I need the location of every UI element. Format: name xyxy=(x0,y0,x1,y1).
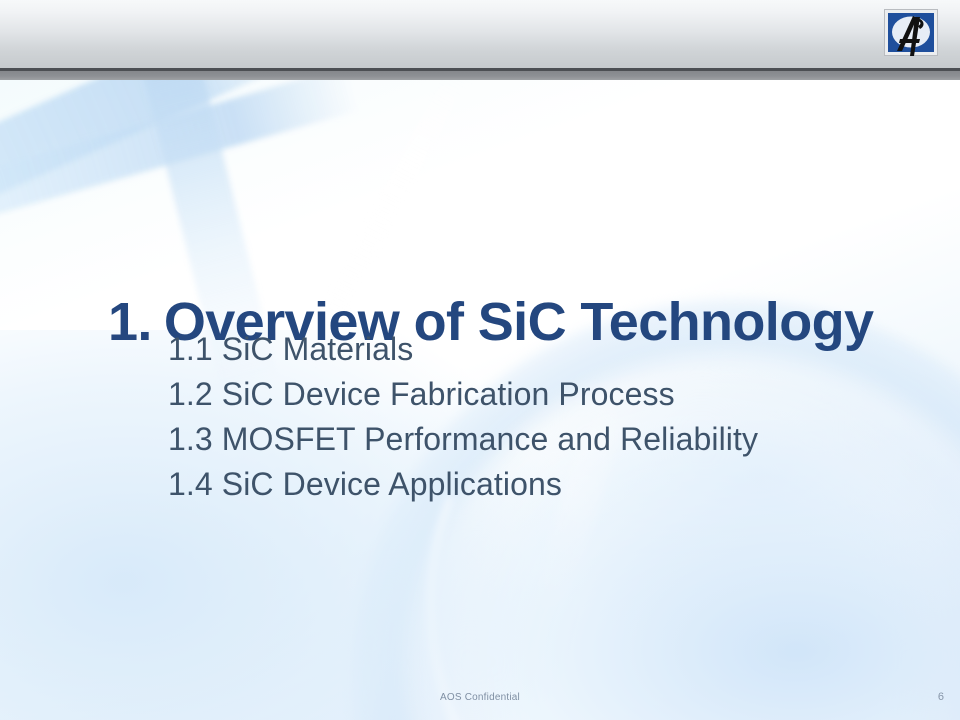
slide-page-number: 6 xyxy=(938,691,944,703)
presentation-slide: 1.Overview of SiC Technology 1.1 SiC Mat… xyxy=(0,0,960,720)
slide-title-number: 1. xyxy=(108,292,152,352)
list-item: 1.1 SiC Materials xyxy=(168,327,758,372)
list-item: 1.2 SiC Device Fabrication Process xyxy=(168,372,758,417)
header-drop-shadow xyxy=(0,71,960,80)
slide-content: 1.Overview of SiC Technology 1.1 SiC Mat… xyxy=(0,0,960,720)
slide-header-band xyxy=(0,0,960,68)
aos-logo-icon xyxy=(884,9,938,56)
list-item: 1.3 MOSFET Performance and Reliability xyxy=(168,417,758,462)
footer-confidential-label: AOS Confidential xyxy=(0,692,960,703)
slide-subtopic-list: 1.1 SiC Materials 1.2 SiC Device Fabrica… xyxy=(168,327,758,507)
list-item: 1.4 SiC Device Applications xyxy=(168,462,758,507)
